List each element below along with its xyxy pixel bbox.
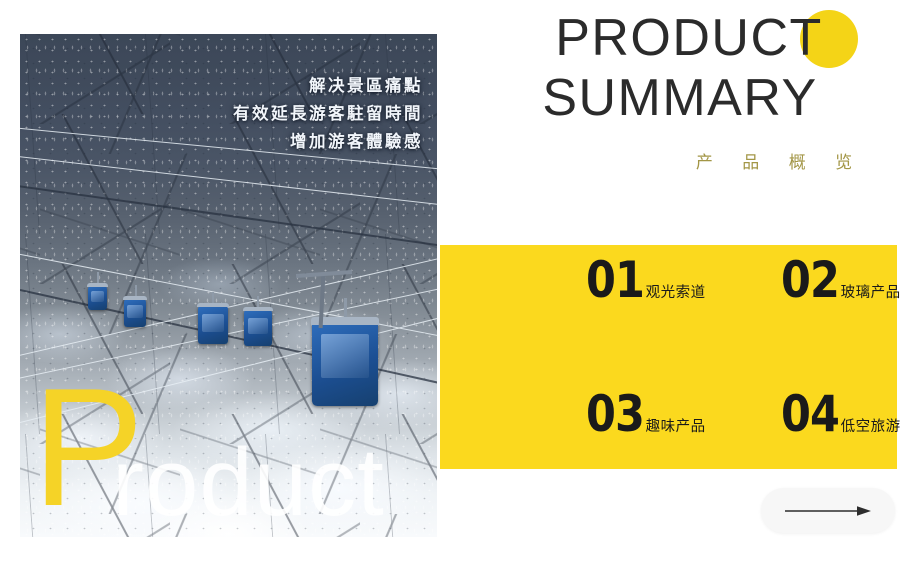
product-item-label: 低空旅游 — [841, 415, 901, 437]
page-subtitle: 产 品 概 览 — [455, 148, 905, 173]
page-title: PRODUCT SUMMARY 产 品 概 览 — [455, 8, 905, 173]
page-title-line-2: SUMMARY — [455, 68, 905, 128]
slide-canvas: 解决景區痛點 有效延長游客駐留時間 增加游客體驗感 P roduct PRODU… — [0, 0, 915, 567]
product-item-number: 04 — [781, 391, 839, 437]
cable-car — [124, 299, 146, 327]
cable-car — [198, 306, 228, 344]
product-item-number: 03 — [586, 391, 644, 437]
photo-caption-line-3: 增加游客體驗感 — [233, 128, 423, 156]
photo-caption-line-1: 解决景區痛點 — [233, 72, 423, 100]
product-item-01[interactable]: 01 观光索道 — [586, 257, 706, 303]
product-item-label: 玻璃产品 — [841, 281, 901, 303]
product-list-panel: 01 观光索道 02 玻璃产品 03 趣味产品 04 低空旅游 — [440, 245, 897, 469]
cable-car — [88, 286, 107, 310]
winter-cable-car-photo: 解决景區痛點 有效延長游客駐留時間 增加游客體驗感 P roduct — [20, 34, 437, 537]
product-item-number: 02 — [781, 257, 839, 303]
photo-caption: 解决景區痛點 有效延長游客駐留時間 增加游客體驗感 — [233, 72, 423, 156]
cable-car — [312, 320, 378, 406]
cable-car — [244, 310, 272, 346]
page-title-line-1: PRODUCT — [455, 8, 905, 68]
product-item-04[interactable]: 04 低空旅游 — [781, 391, 901, 437]
product-item-number: 01 — [586, 257, 644, 303]
arrow-right-icon — [783, 504, 873, 518]
product-item-label: 趣味产品 — [646, 415, 706, 437]
product-item-03[interactable]: 03 趣味产品 — [586, 391, 706, 437]
photo-caption-line-2: 有效延長游客駐留時間 — [233, 100, 423, 128]
next-slide-button[interactable] — [761, 488, 895, 533]
product-item-label: 观光索道 — [646, 281, 706, 303]
product-item-02[interactable]: 02 玻璃产品 — [781, 257, 901, 303]
